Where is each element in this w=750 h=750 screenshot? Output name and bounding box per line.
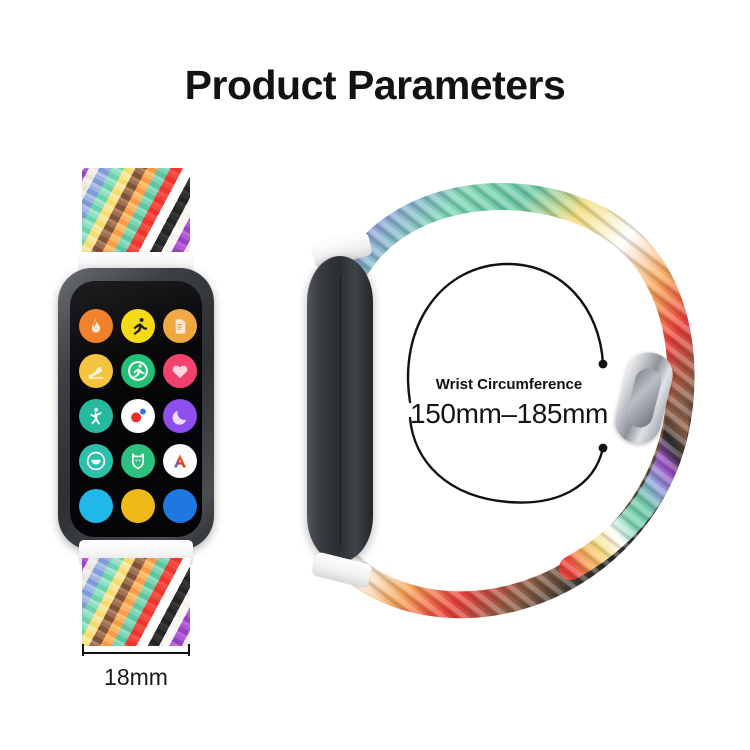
watch-case-front (58, 268, 214, 550)
braid-texture (82, 558, 190, 646)
caliper-bar (82, 652, 190, 654)
band-segment-bottom (82, 558, 190, 646)
band-width-caliper (82, 652, 190, 664)
runner-icon[interactable] (121, 309, 155, 343)
watch-screen (70, 281, 202, 537)
caliper-tick-left (82, 644, 84, 656)
amber-app-icon[interactable] (121, 489, 155, 523)
yoga-icon[interactable] (79, 399, 113, 433)
bowl-icon[interactable] (79, 444, 113, 478)
cyan-app-icon[interactable] (79, 489, 113, 523)
assistant-icon[interactable] (121, 399, 155, 433)
braid-texture (82, 168, 190, 260)
caliper-tick-right (188, 644, 190, 656)
workout-ring-icon[interactable] (121, 354, 155, 388)
shoe-icon[interactable] (79, 354, 113, 388)
wrist-circumference-callout: Wrist Circumference 150mm–185mm (404, 252, 614, 512)
page-title: Product Parameters (0, 62, 750, 109)
appstore-a-icon[interactable] (163, 444, 197, 478)
document-icon[interactable] (163, 309, 197, 343)
band-width-label: 18mm (56, 664, 216, 691)
flame-icon[interactable] (79, 309, 113, 343)
watch-case-side (307, 256, 373, 562)
wrist-circumference-value: 150mm–185mm (390, 398, 628, 430)
wrist-circumference-label: Wrist Circumference (404, 376, 614, 393)
band-segment-top (82, 168, 190, 260)
blue-app-icon[interactable] (163, 489, 197, 523)
heart-icon[interactable] (163, 354, 197, 388)
moon-icon[interactable] (163, 399, 197, 433)
app-grid (79, 309, 193, 523)
product-parameters-page: Product Parameters (0, 0, 750, 750)
cat-shield-icon[interactable] (121, 444, 155, 478)
front-view (55, 168, 215, 668)
